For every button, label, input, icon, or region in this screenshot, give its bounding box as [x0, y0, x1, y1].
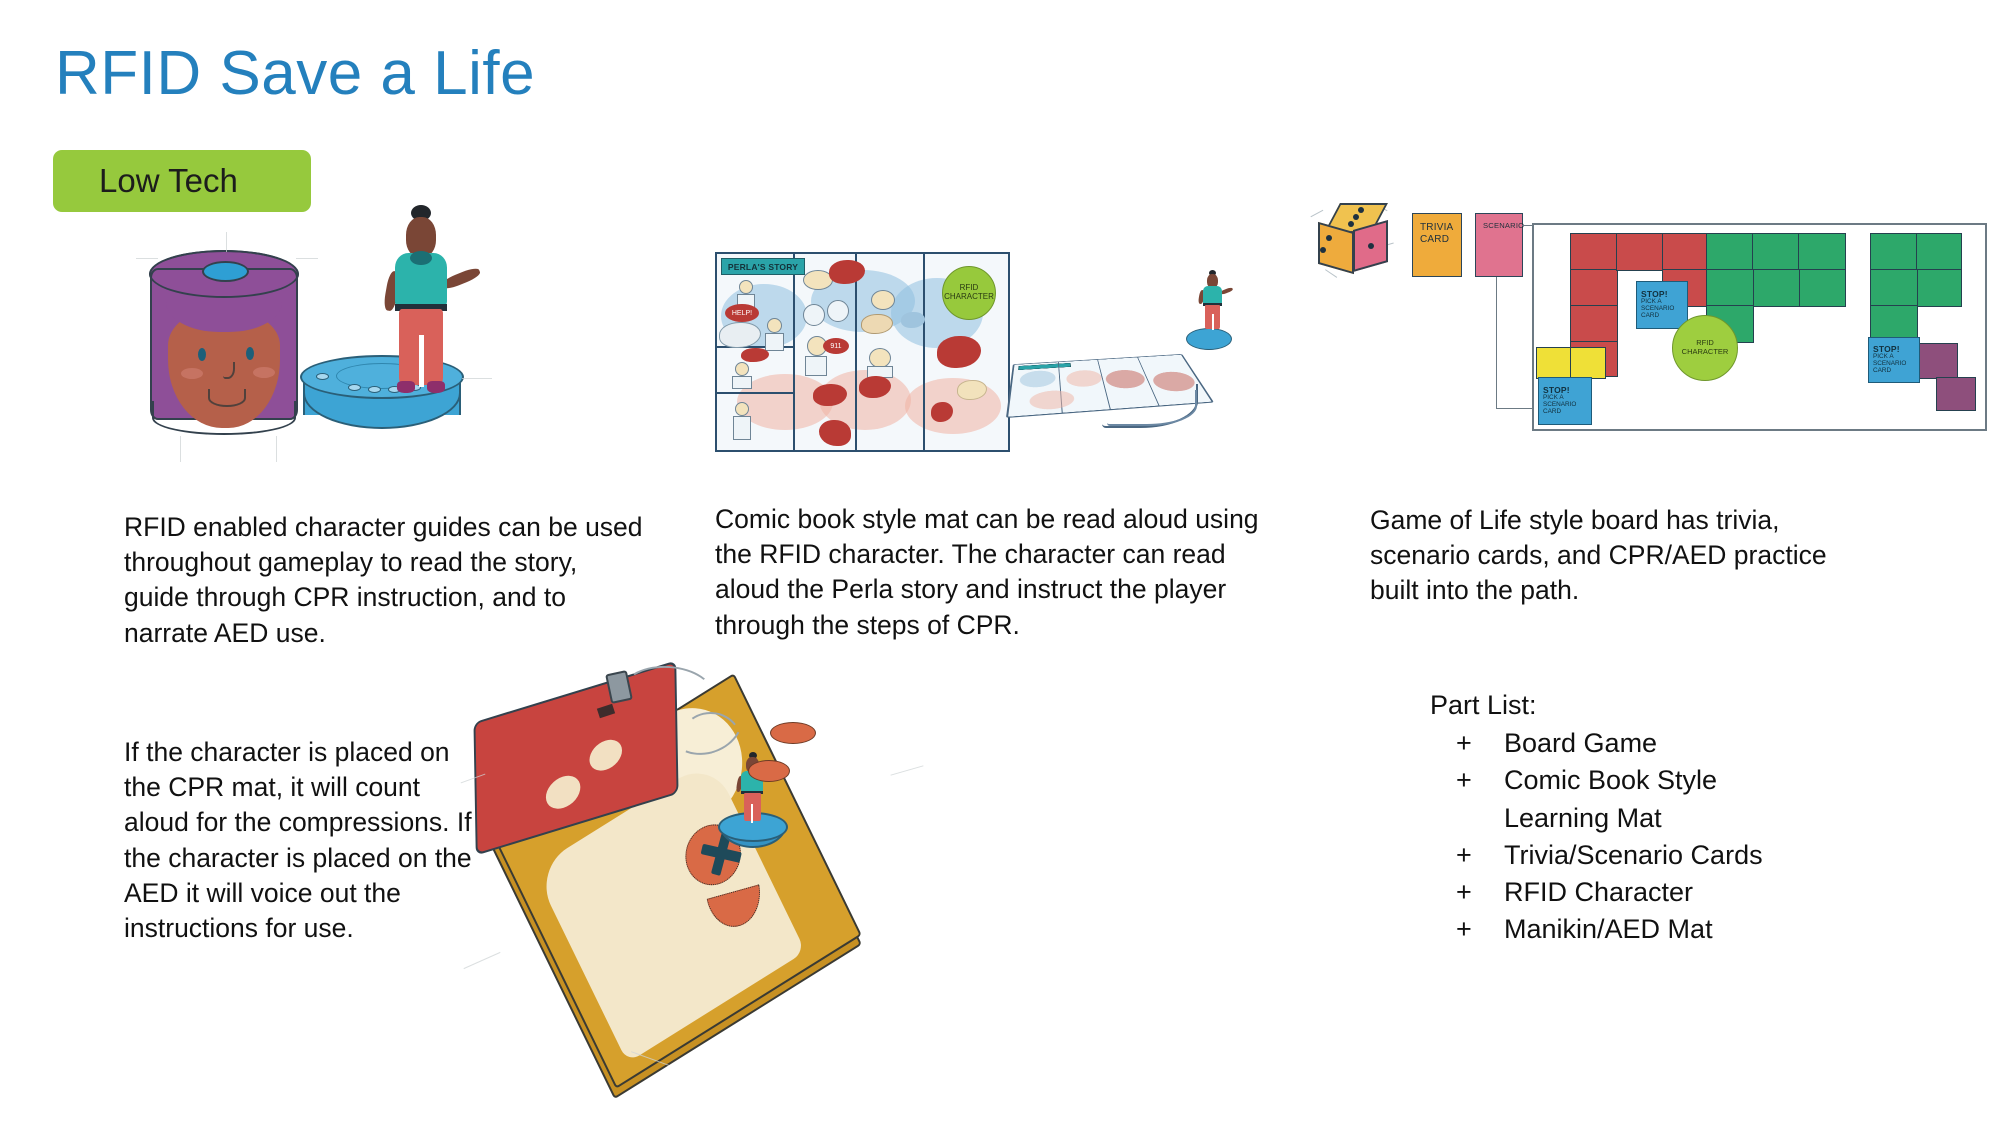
speech-bubble: HELP!	[725, 304, 759, 322]
board-tile-green	[1916, 233, 1962, 271]
sketch-sparkle	[1310, 210, 1323, 218]
figure-head	[767, 318, 782, 333]
smile	[208, 389, 246, 407]
rfid-base-top	[1186, 328, 1232, 350]
comic-story-title: PERLA'S STORY	[721, 258, 805, 275]
board-tile-red	[1662, 233, 1708, 271]
part-list-item-label: Board Game	[1504, 725, 1657, 762]
comic-panel-divider	[717, 392, 793, 394]
leg-gap	[751, 804, 753, 823]
figure-body	[765, 333, 784, 351]
leg-gap	[1212, 314, 1214, 330]
trivia-card: TRIVIA CARD	[1412, 213, 1462, 277]
figure-head	[827, 300, 849, 322]
figure-head	[869, 348, 891, 368]
dice-pip	[1358, 207, 1364, 213]
caption-board-game: Game of Life style board has trivia, sce…	[1370, 503, 1870, 609]
stop-body: PICK A SCENARIO CARD	[1641, 299, 1683, 320]
part-list-item: +Manikin/AED Mat	[1430, 911, 1763, 948]
sketch-guide-line	[276, 436, 277, 462]
sketch-guide-line	[296, 258, 318, 259]
figure-body	[733, 416, 751, 440]
part-list-item-label: RFID Character	[1504, 874, 1693, 911]
figure-body	[805, 356, 827, 376]
figure-body	[732, 376, 752, 389]
board-stop-tile: STOP! PICK A SCENARIO CARD	[1636, 281, 1688, 329]
cheek-left	[181, 368, 203, 379]
figure-head	[803, 304, 825, 326]
comic-figure	[763, 318, 789, 352]
part-list-items: +Board Game+Comic Book Style+Learning Ma…	[1430, 725, 1763, 949]
status-badge-low-tech: Low Tech	[53, 150, 311, 212]
part-list-item-label: Manikin/AED Mat	[1504, 911, 1713, 948]
board-tile-purple	[1936, 377, 1976, 411]
slide-canvas: RFID Save a Life Low Tech	[0, 0, 2000, 1125]
base-led	[348, 384, 361, 391]
comic-figure	[871, 290, 899, 316]
trivia-card-label: TRIVIA CARD	[1420, 222, 1453, 245]
sketch-guide-line	[891, 765, 924, 775]
board-tile-green	[1706, 233, 1754, 271]
comic-panel-divider	[923, 252, 925, 452]
eye-left	[198, 348, 206, 361]
part-list-bullet: +	[1430, 762, 1504, 799]
rfid-character-figure	[1195, 270, 1229, 326]
part-list-item: +Trivia/Scenario Cards	[1430, 837, 1763, 874]
stop-body: PICK A SCENARIO CARD	[1543, 395, 1587, 416]
sketch-sparkle	[1325, 269, 1337, 278]
board-tile-yellow	[1536, 347, 1572, 379]
figure-head	[735, 362, 749, 376]
board-tile-red	[1616, 233, 1664, 271]
figure-head	[735, 402, 749, 416]
sketch-guide-line	[462, 378, 492, 379]
mat-curled-corner-inner	[1107, 390, 1197, 426]
caption-character: RFID enabled character guides can be use…	[124, 510, 644, 651]
caption-comic-mat: Comic book style mat can be read aloud u…	[715, 502, 1270, 643]
comic-figure	[865, 348, 899, 378]
status-badge-label: Low Tech	[99, 162, 238, 200]
part-list-item: +Board Game	[1430, 725, 1763, 762]
part-list-item: +Learning Mat	[1430, 800, 1763, 837]
aed-electrode-pad	[748, 760, 790, 782]
board-stop-tile: STOP! PICK A SCENARIO CARD	[1538, 377, 1592, 425]
board-tile-green	[1798, 269, 1846, 307]
comic-figure	[803, 300, 849, 332]
comic-accent-blob	[819, 420, 851, 446]
aed-button	[546, 771, 581, 813]
scenario-card-label: SCENARIO	[1483, 221, 1524, 230]
eye-right	[246, 347, 254, 360]
mat-story-title-bar	[1018, 363, 1071, 370]
aed-electrode-pad	[770, 722, 816, 744]
speech-bubble: 911	[823, 338, 849, 354]
dice-pip	[1326, 235, 1332, 241]
aed-button	[589, 736, 622, 775]
part-list: Part List: +Board Game+Comic Book Style+…	[1430, 690, 1763, 949]
board-tile-green	[1706, 269, 1754, 307]
part-list-bullet: +	[1430, 911, 1504, 948]
dice-pip	[1320, 247, 1326, 253]
collar	[410, 251, 432, 265]
board-game-illustration: TRIVIA CARD SCENARIO	[1300, 195, 1990, 455]
part-list-item: +Comic Book Style	[1430, 762, 1763, 799]
scenario-card: SCENARIO	[1475, 213, 1523, 277]
part-list-bullet: +	[1430, 725, 1504, 762]
watercolor-wash	[1019, 370, 1056, 389]
board-tile-red	[1570, 269, 1618, 307]
part-list-title: Part List:	[1430, 690, 1763, 721]
manikin-head-illustration	[150, 250, 300, 435]
dice-pip	[1348, 221, 1354, 227]
figure-head	[739, 280, 753, 294]
part-list-item-label: Comic Book Style	[1504, 762, 1717, 799]
comic-figure	[729, 402, 759, 442]
board-tile-green	[1870, 269, 1918, 307]
stop-body: PICK A SCENARIO CARD	[1873, 354, 1915, 375]
page-title: RFID Save a Life	[55, 38, 535, 109]
dice-pip	[1353, 214, 1359, 220]
board-tile-red	[1570, 233, 1618, 271]
part-list-bullet: +	[1430, 874, 1504, 911]
rfid-character-marker: RFID CHARACTER	[942, 266, 996, 320]
rfid-character-figure	[363, 205, 483, 395]
board-tile-purple	[1916, 343, 1958, 379]
sketch-guide-line	[180, 436, 181, 462]
dice-icon	[1316, 203, 1390, 277]
board-tile-yellow	[1570, 347, 1606, 379]
shoe-left	[397, 381, 415, 393]
board-tile-red	[1570, 305, 1618, 343]
watercolor-wash	[1029, 389, 1075, 411]
caption-cpr-mat: If the character is placed on the CPR ma…	[124, 735, 474, 946]
part-list-item-label: Learning Mat	[1504, 800, 1662, 837]
comic-mat-illustration: PERLA'S STORY RFID CHARACTER HELP!	[715, 252, 1010, 452]
figure-head	[871, 290, 895, 310]
shoe-right	[427, 381, 445, 393]
board-tile-green	[1916, 269, 1962, 307]
cheek-right	[253, 367, 275, 378]
leg-gap	[419, 335, 424, 387]
part-list-item: +RFID Character	[1430, 874, 1763, 911]
sketch-guide-line	[464, 952, 501, 969]
comic-mat-perspective-illustration	[1008, 280, 1238, 460]
rfid-character-marker: RFID CHARACTER	[1672, 315, 1738, 381]
speaker-button-icon	[202, 261, 249, 282]
sketch-guide-line	[226, 232, 227, 252]
card-connector-line	[1496, 277, 1532, 409]
comic-panel-divider	[793, 252, 795, 452]
watercolor-wash	[1066, 369, 1104, 388]
part-list-item-label: Trivia/Scenario Cards	[1504, 837, 1763, 874]
part-list-bullet: +	[1430, 837, 1504, 874]
board-tile-green	[1870, 233, 1918, 271]
comic-figure	[731, 362, 761, 390]
board-tile-green	[1752, 269, 1800, 307]
dice-pip	[1368, 243, 1374, 249]
base-led	[316, 373, 329, 380]
aed-manikin-mat-illustration	[470, 660, 930, 1080]
board-tile-green	[1752, 233, 1800, 271]
board-tile-green	[1798, 233, 1846, 271]
sketch-guide-line	[136, 258, 158, 259]
board-stop-tile: STOP! PICK A SCENARIO CARD	[1868, 337, 1920, 383]
